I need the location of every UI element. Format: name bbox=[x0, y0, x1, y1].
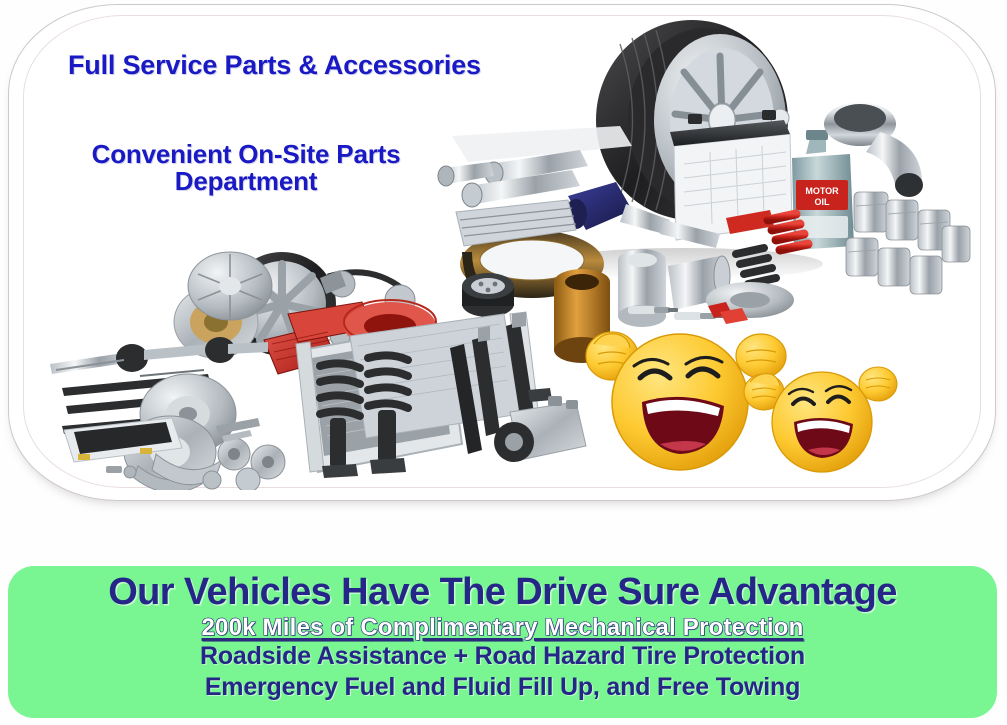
warranty-banner: Our Vehicles Have The Drive Sure Advanta… bbox=[8, 566, 997, 718]
subtitle: Convenient On-Site Parts Department bbox=[60, 141, 432, 195]
oil-filter bbox=[462, 273, 514, 317]
page-title: Full Service Parts & Accessories bbox=[68, 50, 481, 81]
banner-headline: Our Vehicles Have The Drive Sure Advanta… bbox=[8, 573, 997, 613]
banner-benefit-line-2: Emergency Fuel and Fluid Fill Up, and Fr… bbox=[8, 672, 997, 703]
water-pumps bbox=[218, 438, 285, 490]
banner-coverage-highlight: 200k Miles of Complimentary Mechanical P… bbox=[8, 614, 997, 642]
engine-pistons bbox=[846, 192, 970, 294]
laughing-emoji-small bbox=[744, 367, 897, 472]
parts-collage: MOTOR OIL bbox=[20, 14, 985, 490]
banner-benefit-line-1: Roadside Assistance + Road Hazard Tire P… bbox=[8, 641, 997, 672]
svg-text:OIL: OIL bbox=[815, 197, 831, 207]
fuel-filter bbox=[618, 249, 666, 327]
advertisement-image: MOTOR OIL bbox=[0, 0, 1007, 725]
svg-text:MOTOR: MOTOR bbox=[805, 186, 839, 196]
